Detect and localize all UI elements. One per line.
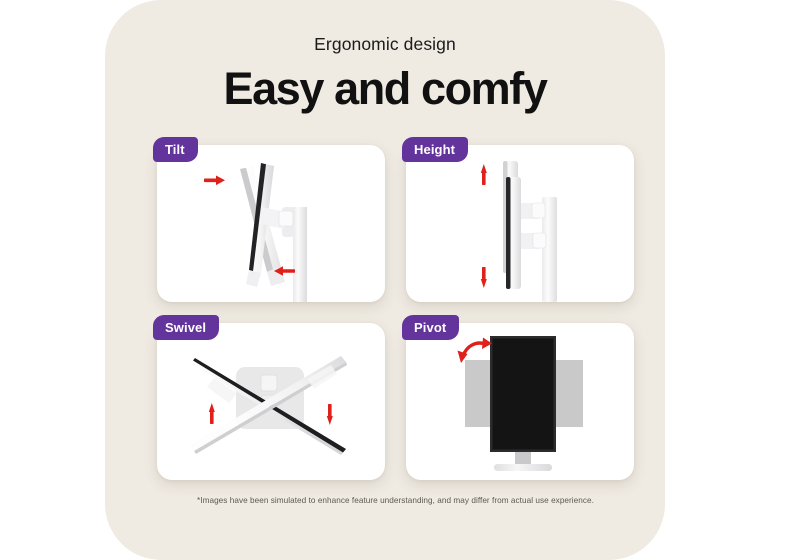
arrow-up-icon — [481, 164, 487, 185]
feature-card-height[interactable]: Height — [406, 145, 634, 302]
arrow-down-icon — [327, 404, 333, 425]
page-title: Easy and comfy — [105, 62, 665, 116]
card-illustration-tilt — [157, 145, 385, 302]
swivel-illustration-svg — [157, 323, 385, 480]
badge-pivot: Pivot — [402, 315, 459, 340]
badge-height: Height — [402, 137, 468, 162]
badge-swivel: Swivel — [153, 315, 219, 340]
feature-card-grid: Tilt — [157, 145, 634, 480]
arrow-down-icon — [481, 267, 487, 288]
monitor-lowered — [506, 177, 546, 289]
tilt-illustration-svg — [157, 145, 385, 302]
footnote-disclaimer: *Images have been simulated to enhance f… — [157, 495, 634, 507]
feature-card-tilt[interactable]: Tilt — [157, 145, 385, 302]
monitor-stand — [494, 452, 552, 471]
eyebrow-text: Ergonomic design — [105, 34, 665, 55]
arrow-up-icon — [209, 403, 215, 424]
arrow-right-icon — [204, 176, 225, 186]
height-illustration-svg — [406, 145, 634, 302]
card-illustration-pivot — [406, 323, 634, 480]
feature-card-pivot[interactable]: Pivot — [406, 323, 634, 480]
badge-tilt: Tilt — [153, 137, 198, 162]
feature-card-swivel[interactable]: Swivel — [157, 323, 385, 480]
pivot-illustration-svg — [406, 323, 634, 480]
card-illustration-swivel — [157, 323, 385, 480]
promo-panel: Ergonomic design Easy and comfy — [105, 0, 665, 560]
card-illustration-height — [406, 145, 634, 302]
monitor-portrait — [490, 336, 556, 452]
arrow-rotate-icon — [458, 338, 493, 364]
